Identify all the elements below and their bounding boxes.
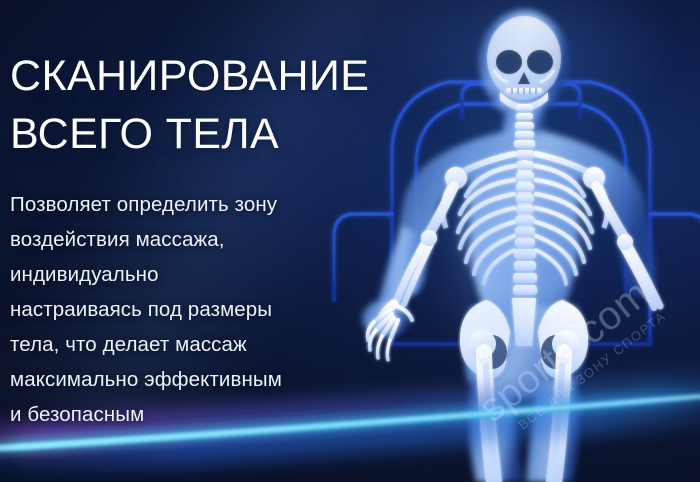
description-line-2: воздействия массажа, (10, 222, 360, 257)
description-line-7: и безопасным (10, 397, 360, 432)
headline-line-1: СКАНИРОВАНИЕ (10, 47, 369, 105)
description-line-1: Позволяет определить зону (10, 187, 360, 222)
description-line-4: настраиваясь под размеры (10, 292, 360, 327)
copy-block: СКАНИРОВАНИЕ ВСЕГО ТЕЛА Позволяет опреде… (10, 0, 430, 482)
description-line-6: максимально эффективным (10, 362, 360, 397)
description-text: Позволяет определить зону воздействия ма… (10, 187, 360, 432)
promo-banner: СКАНИРОВАНИЕ ВСЕГО ТЕЛА Позволяет опреде… (0, 0, 700, 482)
description-line-3: индивидуально (10, 257, 360, 292)
page-title: СКАНИРОВАНИЕ ВСЕГО ТЕЛА (10, 47, 369, 163)
description-line-5: тела, что делает массаж (10, 327, 360, 362)
headline-line-2: ВСЕГО ТЕЛА (10, 105, 369, 163)
